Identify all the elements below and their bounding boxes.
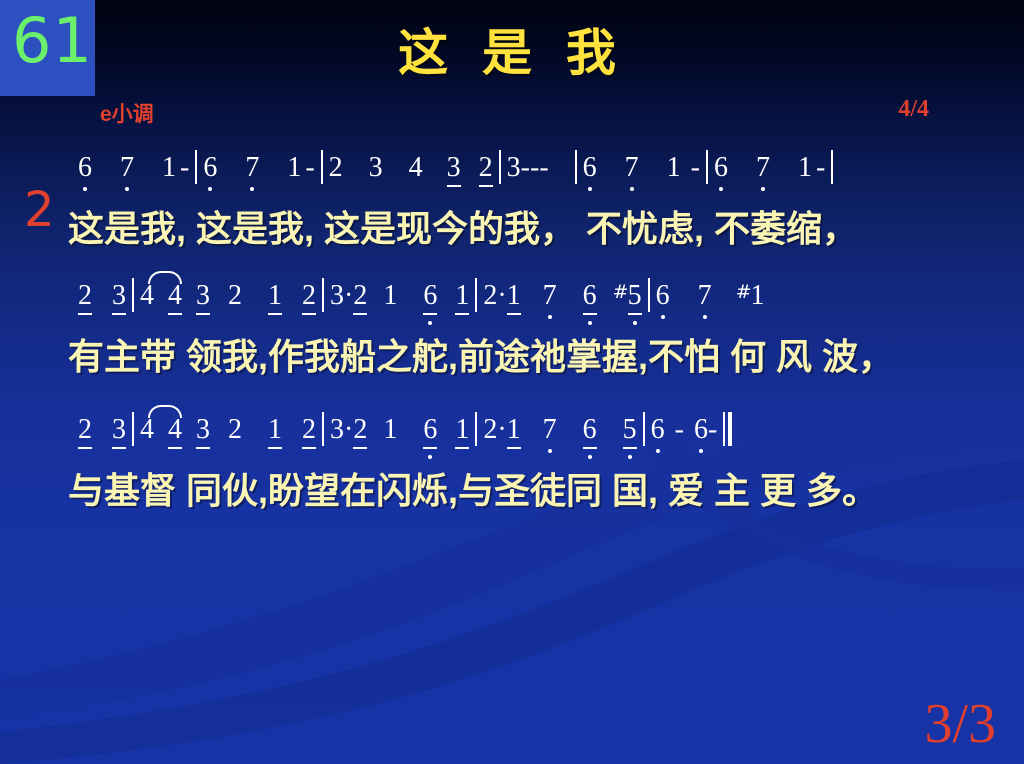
note: 6 (656, 280, 670, 312)
augmentation-dot: · (497, 414, 506, 446)
note: 7 (625, 152, 639, 184)
note-digit: 1 (383, 414, 397, 446)
barline (132, 278, 134, 312)
note-digit: 7 (625, 152, 639, 184)
barline (648, 278, 650, 312)
note: 3 (507, 152, 521, 184)
song-title: 这 是 我 (0, 28, 1024, 78)
note: 1 (455, 414, 469, 449)
note: 2 (353, 414, 367, 449)
note: 1 (162, 152, 176, 184)
barline (831, 150, 833, 184)
note-digit: 1 (507, 280, 521, 315)
duration-dash: - (816, 152, 825, 184)
note: 2 (353, 280, 367, 315)
note-digit: 2 (78, 414, 92, 449)
note-digit: 6 (583, 414, 597, 449)
note: 4 (409, 152, 423, 184)
sharp-icon: # (736, 281, 752, 303)
note-digit: 1 (667, 152, 681, 184)
note: 1 (268, 280, 282, 315)
note: 2 (228, 280, 242, 312)
duration-dash: - (675, 414, 684, 446)
sharp-icon: # (613, 281, 629, 303)
note: 2 (483, 414, 497, 446)
note-digit: 1 (162, 152, 176, 184)
note: 6 (203, 152, 217, 184)
note: 2 (479, 152, 493, 187)
time-signature: 4/4 (898, 96, 929, 123)
note: 7 (756, 152, 770, 184)
note-digit: 2 (483, 280, 497, 312)
barline (322, 412, 324, 446)
notation-line-2: 234432123·21612·176#567#1 (0, 278, 1024, 326)
note-digit: 2 (353, 414, 367, 449)
notation-line-3: 234432123·21612·17656-6- (0, 412, 1024, 460)
note-digit: 3 (330, 280, 344, 312)
note: 7 (543, 414, 557, 446)
note: 3 (369, 152, 383, 184)
note: 6 (423, 414, 437, 449)
barline (195, 150, 197, 184)
note: 3 (112, 280, 126, 315)
note: 2 (302, 280, 316, 315)
note: 1 (798, 152, 812, 184)
note: 2 (228, 414, 242, 446)
note-digit: 1 (455, 414, 469, 449)
note: 2 (329, 152, 343, 184)
page-indicator: 3/3 (924, 696, 996, 752)
note: 7 (120, 152, 134, 184)
barline (475, 278, 477, 312)
note-digit: 6 (583, 152, 597, 184)
note-digit: 3 (196, 280, 210, 315)
duration-dash: - (530, 152, 539, 184)
barline (575, 150, 577, 184)
note-digit: 4 (168, 414, 182, 449)
note: 6 (694, 414, 708, 446)
note-digit: 7 (120, 152, 134, 184)
note-digit: 6 (583, 280, 597, 315)
note-digit: 6 (714, 152, 728, 184)
note-digit: 6 (423, 414, 437, 449)
final-barline (723, 412, 732, 454)
note-digit: 2 (228, 414, 242, 446)
note-digit: 5 (623, 414, 637, 449)
lyrics-line-2: 有主带 领我,作我船之舵,前途祂掌握,不怕 何 风 波， (0, 328, 1024, 380)
note-digit: 4 (168, 280, 182, 315)
note: 3 (196, 280, 210, 315)
duration-dash: - (691, 152, 700, 184)
note-digit: 3 (112, 414, 126, 449)
note: 5 (623, 414, 637, 449)
note-digit: 2 (302, 280, 316, 315)
barline (132, 412, 134, 446)
note: 3 (330, 280, 344, 312)
note: 1 (383, 414, 397, 446)
note-digit: 2 (483, 414, 497, 446)
lyrics-line-3: 与基督 同伙,盼望在闪烁,与圣徒同 国, 爱 主 更 多。 (0, 462, 1024, 514)
note-digit: 7 (698, 280, 712, 312)
note-digit: 6 (656, 280, 670, 312)
note: 7 (245, 152, 259, 184)
key-signature: e小调 (100, 98, 154, 128)
note-digit: 7 (245, 152, 259, 184)
note-digit: 3 (369, 152, 383, 184)
note-digit: 1 (798, 152, 812, 184)
music-system-1: 671-671-234323---671-671- 这是我, 这是我, 这是现今… (0, 150, 1024, 252)
note: 6 (583, 152, 597, 184)
barline (475, 412, 477, 446)
augmentation-dot: · (497, 280, 506, 312)
note: 4 (140, 414, 154, 446)
note-digit: 4 (140, 414, 154, 446)
note-digit: 7 (756, 152, 770, 184)
note-digit: 6 (423, 280, 437, 315)
note: 7 (698, 280, 712, 312)
note-digit: 2 (353, 280, 367, 315)
note: 1 (268, 414, 282, 449)
note-digit: 3 (507, 152, 521, 184)
augmentation-dot: · (344, 280, 353, 312)
note: 4 (140, 280, 154, 312)
note: 2 (302, 414, 316, 449)
note: 6 (714, 152, 728, 184)
duration-dash: - (539, 152, 548, 184)
note: 6 (78, 152, 92, 184)
note: 4 (168, 280, 182, 315)
note: 1 (507, 280, 521, 315)
note-digit: 6 (78, 152, 92, 184)
note-digit: 7 (543, 280, 557, 312)
note-digit: 6 (651, 414, 665, 446)
note: 6 (583, 280, 597, 315)
note: 4 (168, 414, 182, 449)
note-digit: 3 (330, 414, 344, 446)
note-digit: 3 (447, 152, 461, 187)
note: 1 (455, 280, 469, 315)
note-digit: 2 (329, 152, 343, 184)
note-digit: 3 (112, 280, 126, 315)
note: 3 (447, 152, 461, 187)
barline (643, 412, 645, 446)
note-sharp-1: #1 (736, 280, 765, 312)
note: 1 (383, 280, 397, 312)
note: 2 (78, 414, 92, 449)
music-system-3: 234432123·21612·17656-6- 与基督 同伙,盼望在闪烁,与圣… (0, 412, 1024, 514)
duration-dash: - (180, 152, 189, 184)
note-digit: 1 (383, 280, 397, 312)
note-digit: 6 (694, 414, 708, 446)
note: 2 (78, 280, 92, 315)
note: 3 (112, 414, 126, 449)
lyrics-line-1: 这是我, 这是我, 这是现今的我， 不忧虑, 不萎缩， (0, 200, 1024, 252)
note-sharp-5: #5 (613, 280, 642, 315)
note: 3 (330, 414, 344, 446)
note: 6 (651, 414, 665, 446)
note: 1 (287, 152, 301, 184)
note: 3 (196, 414, 210, 449)
note: 1 (667, 152, 681, 184)
note-digit: 1 (268, 414, 282, 449)
note-digit: 1 (507, 414, 521, 449)
barline (499, 150, 501, 184)
barline (706, 150, 708, 184)
note-digit: 1 (751, 280, 765, 312)
duration-dash: - (521, 152, 530, 184)
note: 6 (583, 414, 597, 449)
note-digit: 1 (287, 152, 301, 184)
note: 6 (423, 280, 437, 315)
music-system-2: 234432123·21612·176#567#1 有主带 领我,作我船之舵,前… (0, 278, 1024, 380)
note-digit: 7 (543, 414, 557, 446)
note-digit: 1 (455, 280, 469, 315)
duration-dash: - (708, 414, 717, 446)
duration-dash: - (305, 152, 314, 184)
song-slide: 61 这 是 我 e小调 4/4 2 671-671-234323---671-… (0, 0, 1024, 764)
note-digit: 2 (78, 280, 92, 315)
barline (322, 278, 324, 312)
barline (321, 150, 323, 184)
note: 7 (543, 280, 557, 312)
note-digit: 2 (479, 152, 493, 187)
note-digit: 4 (409, 152, 423, 184)
augmentation-dot: · (344, 414, 353, 446)
note-digit: 4 (140, 280, 154, 312)
note: 2 (483, 280, 497, 312)
note-digit: 3 (196, 414, 210, 449)
note: 1 (507, 414, 521, 449)
note-digit: 5 (628, 280, 642, 315)
note-digit: 1 (268, 280, 282, 315)
note-digit: 2 (302, 414, 316, 449)
note-digit: 6 (203, 152, 217, 184)
notation-line-1: 671-671-234323---671-671- (0, 150, 1024, 198)
note-digit: 2 (228, 280, 242, 312)
